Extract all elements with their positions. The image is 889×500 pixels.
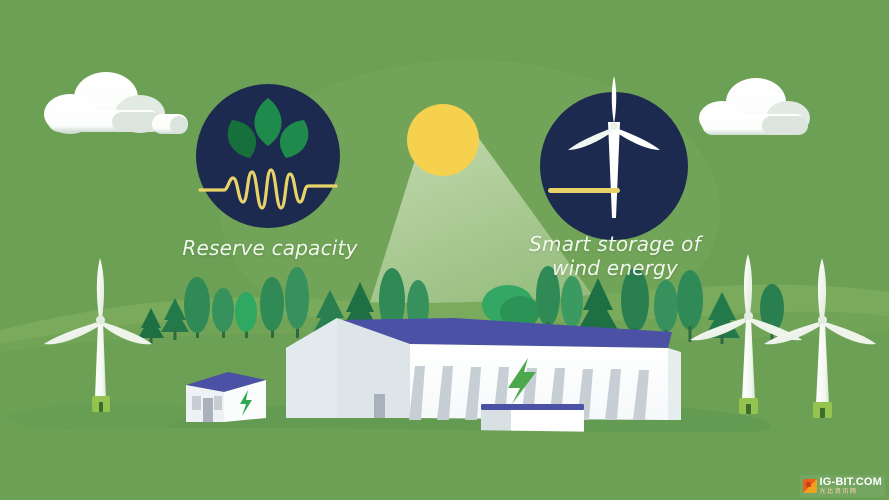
caption-smart-storage-wind: Smart storage of wind energy — [515, 232, 715, 280]
turbine-base-door — [746, 404, 751, 414]
front-platform[interactable] — [481, 404, 584, 434]
house-window — [214, 396, 222, 410]
sun[interactable] — [407, 104, 479, 176]
watermark-domain: IG-BIT.COM — [820, 477, 883, 488]
watermark-subtitle: 光比资讯网 — [820, 489, 883, 495]
turbine-base-door — [820, 408, 825, 418]
turbine-base-door — [99, 402, 103, 412]
watermark-logo-icon — [803, 479, 817, 493]
badge-reserve-capacity[interactable] — [196, 84, 340, 228]
warehouse-right-wall — [668, 348, 681, 420]
gold-bar — [548, 188, 620, 193]
watermark-text: IG-BIT.COM 光比资讯网 — [820, 477, 883, 495]
platform-roof — [481, 404, 584, 410]
warehouse-small-door — [374, 394, 385, 418]
house-door — [203, 398, 213, 422]
caption-reserve-capacity: Reserve capacity — [160, 236, 380, 260]
illustration-canvas: Reserve capacity Smart storage of wind e… — [0, 0, 889, 500]
ig-bit-watermark: IG-BIT.COM 光比资讯网 — [800, 475, 886, 497]
cloud-small-left[interactable] — [152, 114, 188, 134]
foreground-grass — [0, 428, 889, 500]
platform-front — [511, 410, 584, 434]
house-window — [192, 396, 201, 410]
scene-svg — [0, 0, 889, 500]
